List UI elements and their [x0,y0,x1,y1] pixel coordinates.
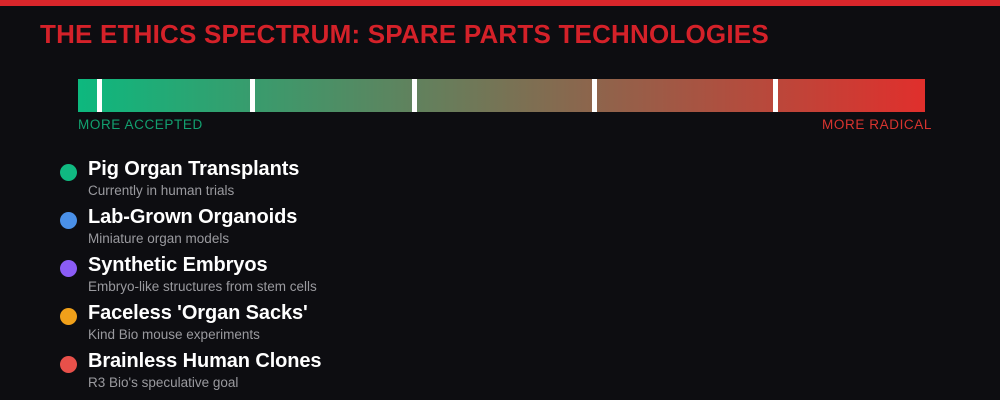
legend-dot-icon [60,356,77,373]
legend-dot-icon [60,308,77,325]
legend-item-name: Pig Organ Transplants [88,158,299,181]
spectrum-marker-2 [250,79,255,112]
legend-item-description: Kind Bio mouse experiments [88,327,260,342]
list-item[interactable]: Synthetic EmbryosEmbryo-like structures … [60,254,620,302]
axis-label-more-accepted: MORE ACCEPTED [78,117,203,132]
list-item[interactable]: Pig Organ TransplantsCurrently in human … [60,158,620,206]
legend-item-description: R3 Bio's speculative goal [88,375,238,390]
spectrum-marker-1 [97,79,102,112]
spectrum-marker-4 [592,79,597,112]
legend-item-description: Embryo-like structures from stem cells [88,279,317,294]
legend-item-name: Faceless 'Organ Sacks' [88,302,308,325]
spectrum-marker-3 [412,79,417,112]
list-item[interactable]: Faceless 'Organ Sacks'Kind Bio mouse exp… [60,302,620,350]
legend-item-name: Brainless Human Clones [88,350,321,373]
legend-item-description: Miniature organ models [88,231,229,246]
infographic-canvas: THE ETHICS SPECTRUM: SPARE PARTS TECHNOL… [0,0,1000,400]
legend-list: Pig Organ TransplantsCurrently in human … [60,158,620,398]
legend-dot-icon [60,260,77,277]
spectrum-marker-5 [773,79,778,112]
top-accent-rule [0,0,1000,6]
axis-label-more-radical: MORE RADICAL [822,117,932,132]
page-title: THE ETHICS SPECTRUM: SPARE PARTS TECHNOL… [40,19,769,50]
list-item[interactable]: Lab-Grown OrganoidsMiniature organ model… [60,206,620,254]
legend-dot-icon [60,164,77,181]
legend-dot-icon [60,212,77,229]
list-item[interactable]: Brainless Human ClonesR3 Bio's speculati… [60,350,620,398]
spectrum-gradient [78,79,925,112]
legend-item-description: Currently in human trials [88,183,234,198]
legend-item-name: Lab-Grown Organoids [88,206,297,229]
legend-item-name: Synthetic Embryos [88,254,267,277]
ethics-spectrum-bar [78,79,925,112]
